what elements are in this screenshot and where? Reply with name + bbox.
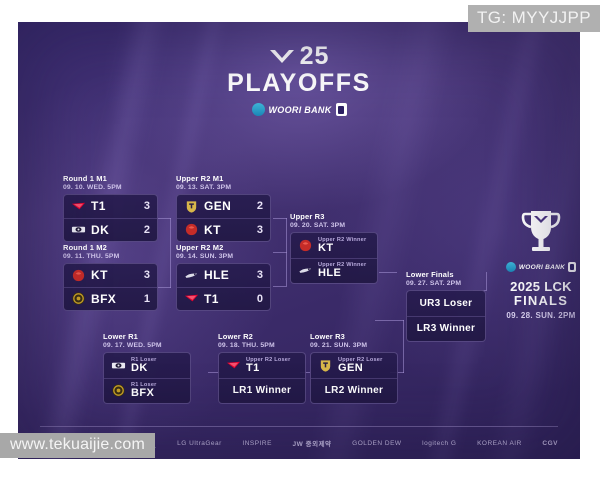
sponsor-label: KOREAN AIR (477, 440, 522, 447)
match-card: Upper R2 Loser GEN LR2 Winner (310, 352, 398, 404)
match-title: Upper R3 (290, 212, 378, 221)
match-card: Upper R2 Loser T1 LR1 Winner (218, 352, 306, 404)
match-date: 09. 17. WED. 5PM (103, 342, 191, 349)
t1-logo-icon (184, 291, 199, 306)
t1-logo-icon (71, 199, 86, 214)
match-title: Lower R2 (218, 332, 306, 341)
match-card: KT 3 BFX 1 (63, 263, 158, 311)
team-row[interactable]: T1 3 (64, 195, 157, 218)
screenshot-root: 25 PLAYOFFS WOORI BANK (0, 0, 600, 480)
match-date: 09. 14. SUN. 3PM (176, 253, 271, 260)
team-name: HLE (204, 269, 249, 281)
team-placeholder: LR2 Winner (318, 385, 390, 396)
team-name: DK (91, 224, 136, 236)
team-row[interactable]: LR2 Winner (311, 378, 397, 403)
team-row[interactable]: T1 0 (177, 287, 270, 310)
match-title: Upper R2 M1 (176, 174, 271, 183)
team-row[interactable]: Upper R2 Winner HLE (291, 258, 377, 283)
match-lower-r2[interactable]: Lower R2 09. 18. THU. 5PM Upper R2 Loser… (218, 332, 306, 404)
connector (286, 218, 287, 286)
kt-logo-icon (298, 238, 313, 253)
team-name: T1 (204, 293, 249, 305)
match-date: 09. 21. SUN. 3PM (310, 342, 398, 349)
match-card: Upper R2 Winner KT Upper R2 Winner HLE (290, 232, 378, 284)
team-score: 1 (136, 293, 150, 305)
match-title: Lower R3 (310, 332, 398, 341)
team-name: BFX (91, 293, 136, 305)
match-card: HLE 3 T1 0 (176, 263, 271, 311)
team-name: KT (204, 224, 249, 236)
hle-logo-icon (298, 263, 313, 278)
woori-bank-icon (506, 262, 516, 272)
sponsor-cgv: CGV (542, 440, 558, 447)
connector (273, 286, 287, 287)
sponsor-inspire: INSPIRE (242, 440, 272, 447)
trophy-icon (520, 207, 562, 259)
sponsor-golden-dew: GOLDEN DEW (352, 440, 401, 447)
sponsor-label: GOLDEN DEW (352, 440, 401, 447)
team-row[interactable]: Upper R2 Loser GEN (311, 353, 397, 378)
finals-sponsor-badge: WOORI BANK (506, 262, 576, 272)
sponsor-logitech-g: logitech G (422, 440, 456, 447)
match-lower-r3[interactable]: Lower R3 09. 21. SUN. 3PM Upper R2 Loser… (310, 332, 398, 404)
sponsor-label: logitech G (422, 440, 456, 447)
kt-logo-icon (71, 268, 86, 283)
connector (379, 272, 397, 273)
match-lower-finals[interactable]: Lower Finals 09. 27. SAT. 2PM UR3 Loser … (406, 270, 486, 342)
dk-logo-icon (111, 358, 126, 373)
tag-overlay: TG: MYYJJPP (468, 5, 600, 32)
team-row[interactable]: BFX 1 (64, 287, 157, 310)
connector (273, 218, 287, 219)
match-round-1-m2[interactable]: Round 1 M2 09. 11. THU. 5PM KT 3 (63, 243, 158, 311)
connector (157, 218, 171, 219)
team-row[interactable]: HLE 3 (177, 264, 270, 287)
finals-sponsor-label: WOORI BANK (519, 264, 565, 271)
match-date: 09. 18. THU. 5PM (218, 342, 306, 349)
match-card: UR3 Loser LR3 Winner (406, 290, 486, 342)
match-card: R1 Loser DK R1 Loser BFX (103, 352, 191, 404)
team-name: KT (318, 243, 370, 254)
match-title: Lower R1 (103, 332, 191, 341)
match-card: T1 3 DK 2 (63, 194, 158, 242)
gen-logo-icon (318, 358, 333, 373)
match-date: 09. 20. SAT. 3PM (290, 222, 378, 229)
match-title: Round 1 M2 (63, 243, 158, 252)
match-card: GEN 2 KT 3 (176, 194, 271, 242)
lck-playoffs-poster: 25 PLAYOFFS WOORI BANK (18, 22, 580, 459)
team-score: 3 (136, 269, 150, 281)
team-row[interactable]: DK 2 (64, 218, 157, 241)
match-date: 09. 11. THU. 5PM (63, 253, 158, 260)
connector (403, 320, 404, 373)
sponsor-lg-ultragear: LG UltraGear (177, 440, 222, 447)
bfx-logo-icon (71, 291, 86, 306)
team-row[interactable]: GEN 2 (177, 195, 270, 218)
team-name: DK (131, 363, 183, 374)
match-date: 09. 27. SAT. 2PM (406, 280, 486, 287)
connector (273, 252, 287, 253)
match-upper-r3[interactable]: Upper R3 09. 20. SAT. 3PM Upper R2 Winne… (290, 212, 378, 284)
match-title: Lower Finals (406, 270, 486, 279)
dk-logo-icon (71, 222, 86, 237)
team-name: T1 (91, 200, 136, 212)
sponsor-label: LG UltraGear (177, 440, 222, 447)
team-placeholder: LR1 Winner (226, 385, 298, 396)
team-name: T1 (246, 363, 298, 374)
bfx-logo-icon (111, 383, 126, 398)
match-title: Round 1 M1 (63, 174, 158, 183)
team-row[interactable]: UR3 Loser (407, 291, 485, 316)
match-date: 09. 10. WED. 5PM (63, 184, 158, 191)
sponsor-korean-air: KOREAN AIR (477, 440, 522, 447)
connector (157, 287, 171, 288)
team-placeholder: LR3 Winner (414, 323, 478, 334)
team-name: HLE (318, 268, 370, 279)
team-row[interactable]: R1 Loser DK (104, 353, 190, 378)
team-name: GEN (204, 200, 249, 212)
watermark: www.tekuaijie.com (0, 433, 155, 458)
team-row[interactable]: Upper R2 Loser T1 (219, 353, 305, 378)
match-upper-r2-m1[interactable]: Upper R2 M1 09. 13. SAT. 3PM GEN 2 (176, 174, 271, 242)
connector (170, 218, 171, 288)
team-name: KT (91, 269, 136, 281)
sponsor-label: INSPIRE (242, 440, 272, 447)
team-score: 3 (249, 224, 263, 236)
team-row[interactable]: KT 3 (177, 218, 270, 241)
team-row[interactable]: KT 3 (64, 264, 157, 287)
team-score: 2 (136, 224, 150, 236)
team-score: 3 (136, 200, 150, 212)
match-lower-r1[interactable]: Lower R1 09. 17. WED. 5PM R1 Loser DK (103, 332, 191, 404)
t1-logo-icon (226, 358, 241, 373)
team-row[interactable]: R1 Loser BFX (104, 378, 190, 403)
finals-title-line2: FINALS (486, 294, 580, 309)
footer-divider (40, 426, 558, 427)
finals-title-line1: 2025 LCK (486, 280, 580, 294)
team-name: BFX (131, 388, 183, 399)
woori-sq-icon (568, 262, 576, 272)
team-score: 2 (249, 200, 263, 212)
team-score: 3 (249, 269, 263, 281)
hle-logo-icon (184, 268, 199, 283)
match-title: Upper R2 M2 (176, 243, 271, 252)
team-name: GEN (338, 363, 390, 374)
finals-block: WOORI BANK 2025 LCK FINALS 09. 28. SUN. … (486, 207, 580, 320)
team-score: 0 (249, 293, 263, 305)
team-row[interactable]: LR1 Winner (219, 378, 305, 403)
connector (375, 320, 404, 321)
team-placeholder: UR3 Loser (414, 298, 478, 309)
team-row[interactable]: LR3 Winner (407, 316, 485, 341)
sponsor-label: CGV (542, 440, 558, 447)
match-upper-r2-m2[interactable]: Upper R2 M2 09. 14. SUN. 3PM HLE 3 (176, 243, 271, 311)
finals-date: 09. 28. SUN. 2PM (486, 311, 580, 320)
team-row[interactable]: Upper R2 Winner KT (291, 233, 377, 258)
match-date: 09. 13. SAT. 3PM (176, 184, 271, 191)
kt-logo-icon (184, 222, 199, 237)
sponsor-label: JW 중외제약 (293, 438, 332, 448)
gen-logo-icon (184, 199, 199, 214)
match-round-1-m1[interactable]: Round 1 M1 09. 10. WED. 5PM T1 3 (63, 174, 158, 242)
sponsor-jw: JW 중외제약 (293, 438, 332, 448)
